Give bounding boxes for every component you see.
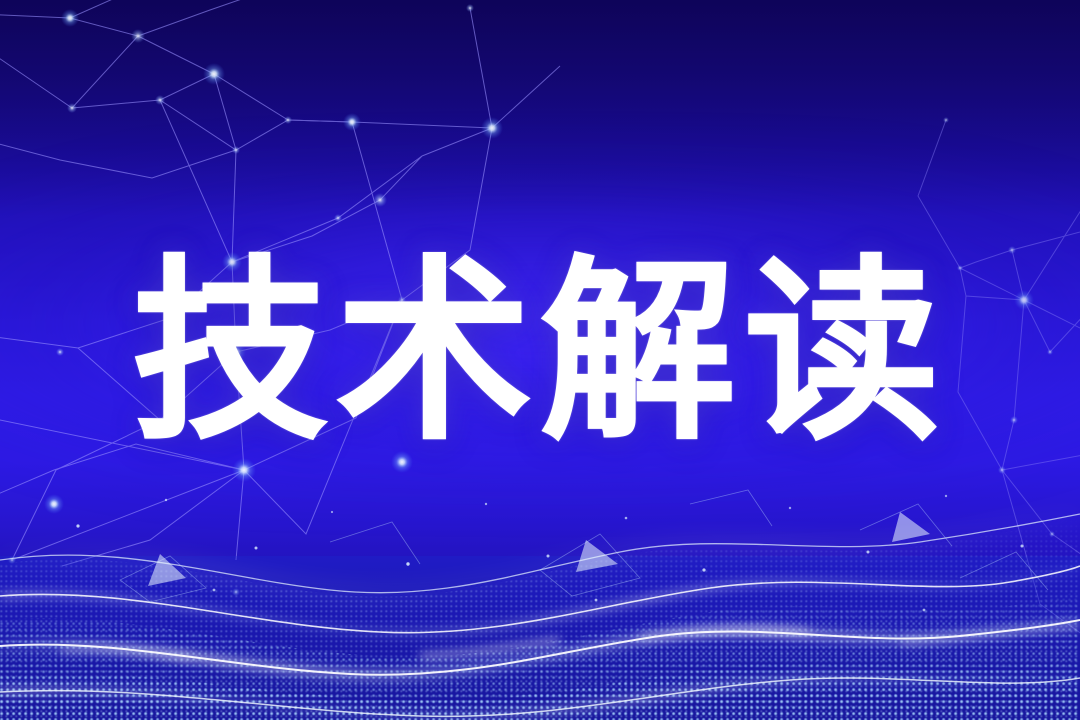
particle-wave-mesh-bottom — [0, 460, 1080, 720]
headline: 技术解读 — [0, 248, 1080, 458]
banner-graphic: 技术解读 — [0, 0, 1080, 720]
headline-title: 技术解读 — [132, 255, 948, 451]
